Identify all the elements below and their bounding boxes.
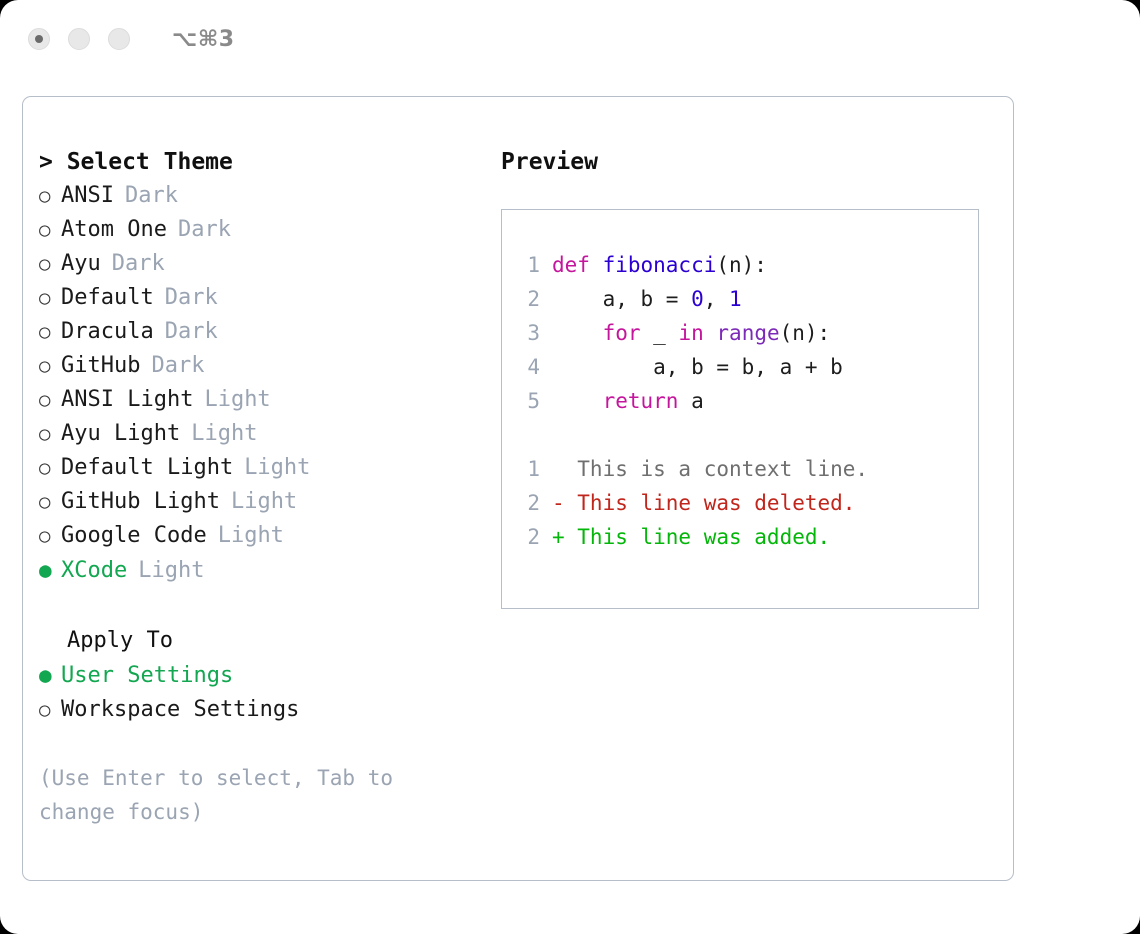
theme-option-label: GitHub — [61, 349, 140, 383]
code-token — [552, 321, 603, 345]
theme-list: ○ANSIDark○Atom OneDark○AyuDark○DefaultDa… — [39, 179, 489, 588]
theme-variant-tag: Light — [231, 485, 297, 519]
apply-to-option-label: Workspace Settings — [61, 693, 299, 727]
code-line-number: 5 — [514, 384, 540, 418]
theme-variant-tag: Light — [244, 451, 310, 485]
code-token: def — [552, 253, 603, 277]
diff-line-number: 2 — [514, 486, 540, 520]
code-line-number: 3 — [514, 316, 540, 350]
theme-variant-tag: Light — [191, 417, 257, 451]
code-token: a, b = b, a + b — [552, 355, 843, 379]
radio-unselected-icon: ○ — [39, 213, 61, 247]
apply-to-header: Apply To — [39, 624, 489, 658]
apply-to-list: ●User Settings○Workspace Settings — [39, 658, 489, 727]
radio-unselected-icon: ○ — [39, 281, 61, 315]
theme-option-label: ANSI — [61, 179, 114, 213]
code-line: 4 a, b = b, a + b — [502, 350, 978, 384]
preview-box: 1def fibonacci(n):2 a, b = 0, 13 for _ i… — [501, 209, 979, 609]
theme-option-label: Google Code — [61, 519, 207, 553]
window-controls — [28, 28, 130, 50]
window-dot-3-icon[interactable] — [108, 28, 130, 50]
theme-option-default[interactable]: ○DefaultDark — [39, 281, 489, 315]
theme-variant-tag: Light — [204, 383, 270, 417]
keyboard-hint-text: (Use Enter to select, Tab to change focu… — [39, 761, 449, 829]
diff-line: 1 This is a context line. — [502, 452, 978, 486]
theme-option-label: GitHub Light — [61, 485, 220, 519]
theme-option-ansi[interactable]: ○ANSIDark — [39, 179, 489, 213]
theme-variant-tag: Light — [138, 554, 204, 588]
radio-unselected-icon: ○ — [39, 247, 61, 281]
theme-option-label: Default Light — [61, 451, 233, 485]
radio-unselected-icon: ○ — [39, 417, 61, 451]
theme-option-github-light[interactable]: ○GitHub LightLight — [39, 485, 489, 519]
theme-option-label: ANSI Light — [61, 383, 193, 417]
code-token: 0 — [691, 287, 704, 311]
diff-line: 2- This line was deleted. — [502, 486, 978, 520]
radio-unselected-icon: ○ — [39, 693, 61, 727]
theme-option-ansi-light[interactable]: ○ANSI LightLight — [39, 383, 489, 417]
theme-option-ayu[interactable]: ○AyuDark — [39, 247, 489, 281]
code-line: 3 for _ in range(n): — [502, 316, 978, 350]
preview-header: Preview — [501, 145, 991, 179]
theme-variant-tag: Dark — [112, 247, 165, 281]
radio-selected-icon: ● — [39, 553, 61, 587]
code-sample: 1def fibonacci(n):2 a, b = 0, 13 for _ i… — [502, 248, 978, 418]
diff-line: 2+ This line was added. — [502, 520, 978, 554]
code-line-text: def fibonacci(n): — [552, 248, 767, 282]
theme-variant-tag: Dark — [178, 213, 231, 247]
theme-option-github[interactable]: ○GitHubDark — [39, 349, 489, 383]
radio-unselected-icon: ○ — [39, 179, 61, 213]
code-token: _ — [641, 321, 679, 345]
code-token: (n): — [780, 321, 831, 345]
theme-option-xcode[interactable]: ●XCodeLight — [39, 553, 489, 588]
window-dot-2-icon[interactable] — [68, 28, 90, 50]
code-line-number: 1 — [514, 248, 540, 282]
code-token: for — [603, 321, 641, 345]
code-token: return — [603, 389, 679, 413]
radio-selected-icon: ● — [39, 658, 61, 692]
code-line-text: for _ in range(n): — [552, 316, 830, 350]
code-token — [704, 321, 717, 345]
theme-variant-tag: Dark — [165, 315, 218, 349]
code-token: , — [704, 287, 729, 311]
radio-unselected-icon: ○ — [39, 383, 61, 417]
apply-to-option-user-settings[interactable]: ●User Settings — [39, 658, 489, 693]
code-line-number: 2 — [514, 282, 540, 316]
theme-option-ayu-light[interactable]: ○Ayu LightLight — [39, 417, 489, 451]
diff-line-text: - This line was deleted. — [552, 486, 855, 520]
theme-option-dracula[interactable]: ○DraculaDark — [39, 315, 489, 349]
diff-line-number: 1 — [514, 452, 540, 486]
code-line: 2 a, b = 0, 1 — [502, 282, 978, 316]
theme-option-default-light[interactable]: ○Default LightLight — [39, 451, 489, 485]
diff-line-text: + This line was added. — [552, 520, 830, 554]
code-token: (n): — [716, 253, 767, 277]
apply-to-option-label: User Settings — [61, 659, 233, 693]
code-token: a, b = — [552, 287, 691, 311]
theme-option-label: Default — [61, 281, 154, 315]
apply-to-option-workspace-settings[interactable]: ○Workspace Settings — [39, 693, 489, 727]
theme-option-label: Dracula — [61, 315, 154, 349]
theme-option-atom-one[interactable]: ○Atom OneDark — [39, 213, 489, 247]
code-token: fibonacci — [603, 253, 717, 277]
theme-option-label: Ayu Light — [61, 417, 180, 451]
theme-option-label: Ayu — [61, 247, 101, 281]
theme-variant-tag: Dark — [165, 281, 218, 315]
theme-variant-tag: Dark — [125, 179, 178, 213]
theme-option-google-code[interactable]: ○Google CodeLight — [39, 519, 489, 553]
diff-line-text: This is a context line. — [552, 452, 868, 486]
diff-line-number: 2 — [514, 520, 540, 554]
code-token: a — [678, 389, 703, 413]
preview-column: Preview 1def fibonacci(n):2 a, b = 0, 13… — [501, 145, 991, 609]
code-line-text: a, b = b, a + b — [552, 350, 843, 384]
radio-unselected-icon: ○ — [39, 485, 61, 519]
radio-unselected-icon: ○ — [39, 519, 61, 553]
diff-sample: 1 This is a context line.2- This line wa… — [502, 452, 978, 554]
theme-variant-tag: Dark — [151, 349, 204, 383]
theme-list-column: > Select Theme ○ANSIDark○Atom OneDark○Ay… — [39, 145, 489, 829]
code-line-number: 4 — [514, 350, 540, 384]
theme-option-label: Atom One — [61, 213, 167, 247]
code-token: range — [716, 321, 779, 345]
radio-unselected-icon: ○ — [39, 315, 61, 349]
code-token: in — [678, 321, 703, 345]
window-dot-active-icon[interactable] — [28, 28, 50, 50]
theme-option-label: XCode — [61, 554, 127, 588]
window-dot-active-inner — [35, 35, 43, 43]
theme-picker-panel: > Select Theme ○ANSIDark○Atom OneDark○Ay… — [22, 96, 1014, 881]
radio-unselected-icon: ○ — [39, 349, 61, 383]
radio-unselected-icon: ○ — [39, 451, 61, 485]
code-token: 1 — [729, 287, 742, 311]
shortcut-label: ⌥⌘3 — [172, 27, 235, 52]
select-theme-header: > Select Theme — [39, 145, 489, 179]
code-line-text: return a — [552, 384, 704, 418]
code-line: 5 return a — [502, 384, 978, 418]
terminal-window: ⌥⌘3 > Select Theme ○ANSIDark○Atom OneDar… — [0, 0, 1140, 934]
theme-variant-tag: Light — [218, 519, 284, 553]
code-line: 1def fibonacci(n): — [502, 248, 978, 282]
title-bar: ⌥⌘3 — [0, 0, 1140, 78]
code-token — [552, 389, 603, 413]
code-line-text: a, b = 0, 1 — [552, 282, 742, 316]
